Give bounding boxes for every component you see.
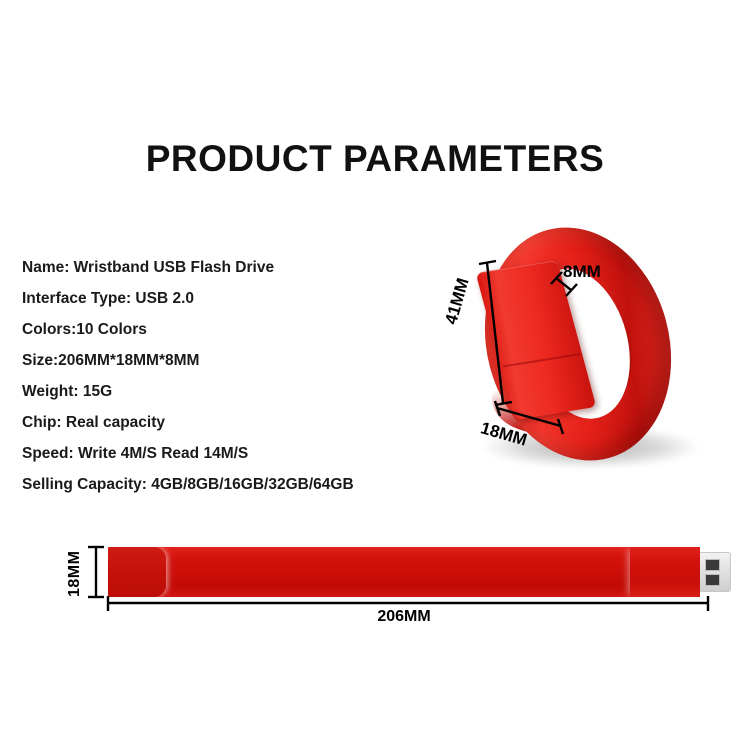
flat-wristband-image: 18MM 206MM [60,520,750,645]
product-parameters-page: PRODUCT PARAMETERS Name: Wristband USB F… [0,0,750,750]
spec-line-selling-capacity: Selling Capacity: 4GB/8GB/16GB/32GB/64GB [22,469,442,500]
strap-dimension-lines [60,520,750,645]
coil-usb-housing-seam [502,353,580,367]
spec-list: Name: Wristband USB Flash Drive Interfac… [22,252,442,500]
page-title: PRODUCT PARAMETERS [0,138,750,180]
coil-dimension-thickness-label: 8MM [563,262,601,282]
coiled-wristband-image: 8MM 41MM 18MM [455,218,735,503]
spec-line-interface-type: Interface Type: USB 2.0 [22,283,442,314]
strap-dimension-width-label: 18MM [66,547,84,597]
coil-dimension-diameter-label: 41MM [441,276,473,327]
spec-line-speed: Speed: Write 4M/S Read 14M/S [22,438,442,469]
strap-dimension-length-label: 206MM [108,608,700,626]
spec-line-colors: Colors:10 Colors [22,314,442,345]
spec-line-size: Size:206MM*18MM*8MM [22,345,442,376]
spec-line-name: Name: Wristband USB Flash Drive [22,252,442,283]
spec-line-chip: Chip: Real capacity [22,407,442,438]
spec-line-weight: Weight: 15G [22,376,442,407]
